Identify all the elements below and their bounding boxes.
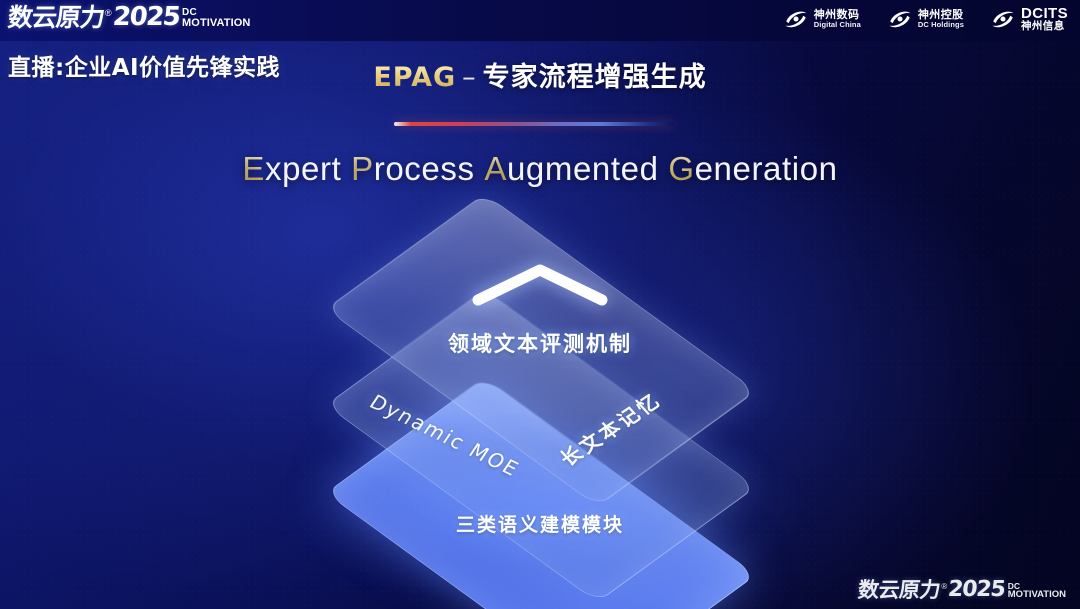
partner-name-en: DC Holdings [918,21,964,29]
title-acronym: EPAG [373,62,456,93]
partner-label: 神州数码 Digital China [814,9,861,29]
title-chinese: 专家流程增强生成 [483,62,707,93]
partner-label: DCITS 神州信息 [1021,6,1068,32]
subtitle-cap-p: P [351,150,374,187]
brand-logo: 数云原力 ® 2025 DC MOTIVATION [8,4,250,30]
subtitle-cap-e: E [242,150,265,187]
diagram-layer-bottom-label: 三类语义建模模块 [0,510,1080,537]
brand-year: 2025 [111,4,180,30]
subtitle-word-augmented: ugmented [507,150,659,187]
subtitle-word-expert: xpert [265,150,341,187]
partner-name-en: DCITS [1021,6,1068,21]
watermark-name-cn: 数云原力 [857,580,941,601]
partner-logo-group: 神州数码 Digital China 神州控股 DC Holdings [783,6,1068,32]
gradient-divider [394,122,674,126]
watermark-year: 2025 [947,579,1006,601]
watermark-tagline: DC MOTIVATION [1008,582,1066,601]
watermark-registered-mark: ® [941,583,947,591]
subtitle-word-process: rocess [374,150,475,187]
partner-logo-dcits: DCITS 神州信息 [990,6,1068,32]
livestream-title: 直播:企业AI价值先锋实践 [8,48,280,82]
subtitle-cap-a: A [484,150,507,187]
subtitle-cap-g: G [668,150,694,187]
layered-architecture-diagram: 领域文本评测机制 Dynamic MOE 长文本记忆 三类语义建模模块 [0,218,1080,578]
swoosh-logo-icon [783,6,809,32]
page-subtitle: Expert Process Augmented Generation [0,150,1080,188]
partner-name-cn: 神州信息 [1021,21,1068,32]
partner-logo-digital-china: 神州数码 Digital China [783,6,861,32]
partner-label: 神州控股 DC Holdings [918,9,964,29]
brand-registered-mark: ® [105,9,112,18]
subtitle-word-generation: eneration [695,150,838,187]
swoosh-logo-icon [990,6,1016,32]
partner-logo-dc-holdings: 神州控股 DC Holdings [887,6,964,32]
chevron-up-icon [468,260,612,308]
watermark-tagline-line2: MOTIVATION [1008,590,1066,600]
brand-tagline-line2: MOTIVATION [182,18,250,29]
partner-name-en: Digital China [814,21,861,29]
brand-tagline: DC MOTIVATION [182,8,250,30]
footer-watermark: 数云原力 ® 2025 DC MOTIVATION [858,579,1066,601]
swoosh-logo-icon [887,6,913,32]
diagram-layer-top-label: 领域文本评测机制 [0,328,1080,358]
brand-name-cn: 数云原力 [7,5,106,30]
slide-canvas: 数云原力 ® 2025 DC MOTIVATION 直播:企业AI价值先锋实践 … [0,0,1080,609]
title-dash: – [462,62,477,93]
